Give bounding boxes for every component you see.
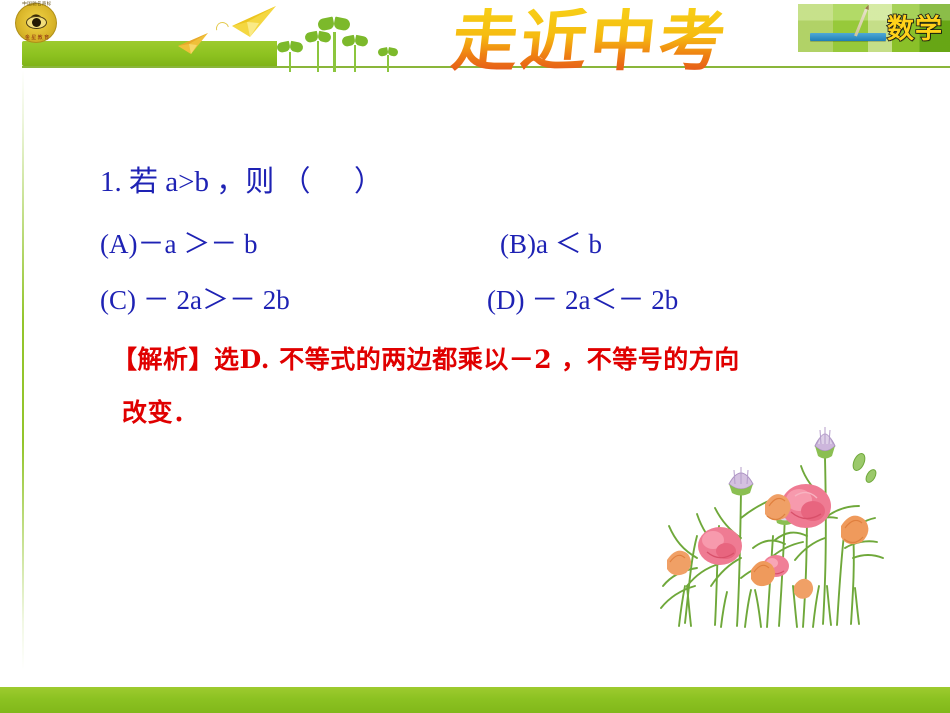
publisher-logo: 中国驰名商标 金 星 教 育: [7, 1, 69, 45]
option-b: (B)a ＜ b: [500, 222, 602, 261]
option-d: (D) － 2a＜－ 2b: [487, 278, 678, 317]
slide-header: 中国驰名商标 金 星 教 育: [0, 0, 950, 72]
ruler-icon: [810, 33, 886, 41]
eye-logo-pupil: [32, 18, 41, 27]
wildflowers-svg: [655, 418, 895, 633]
deck-title: 走近中考: [449, 8, 732, 74]
left-accent-line: [22, 70, 24, 670]
swirl-icon: [214, 20, 232, 38]
footer-green-bar: [0, 687, 950, 713]
paper-plane-icon-large: [232, 6, 278, 43]
sprout-icon: [378, 47, 398, 72]
flower-lavender-top: [815, 427, 835, 459]
flower-orange-4: [751, 561, 775, 586]
sprout-icon: [277, 41, 303, 72]
sprout-icon: [342, 34, 368, 72]
publisher-logo-bottom-text: 金 星 教 育: [15, 34, 59, 41]
option-a: (A)－a ＞－ b: [100, 222, 257, 261]
paper-plane-small-svg: [178, 33, 212, 55]
flower-orange-2: [841, 516, 868, 544]
subject-badge: 数学: [798, 4, 950, 52]
flower-orange-5: [794, 579, 813, 599]
slide-canvas: 中国驰名商标 金 星 教 育: [0, 0, 950, 713]
flower-lavender-mid: [729, 467, 753, 496]
subject-badge-label: 数学: [887, 7, 943, 46]
paper-plane-large-svg: [232, 6, 278, 38]
explanation-line-1: 【解析】选D. 不等式的两边都乘以－2 ，不等号的方向: [112, 340, 740, 376]
option-c: (C) － 2a＞－ 2b: [100, 278, 290, 317]
publisher-logo-arc-text: 中国驰名商标: [11, 1, 63, 7]
question-stem: 1. 若 a>b ，则 （ ）: [100, 158, 383, 200]
flower-orange-3: [667, 551, 691, 576]
paper-plane-icon-small: [178, 33, 212, 60]
explanation-line-2: 改变．: [122, 393, 199, 429]
wildflowers-illustration: [655, 418, 895, 633]
flower-pink-left: [698, 527, 742, 565]
